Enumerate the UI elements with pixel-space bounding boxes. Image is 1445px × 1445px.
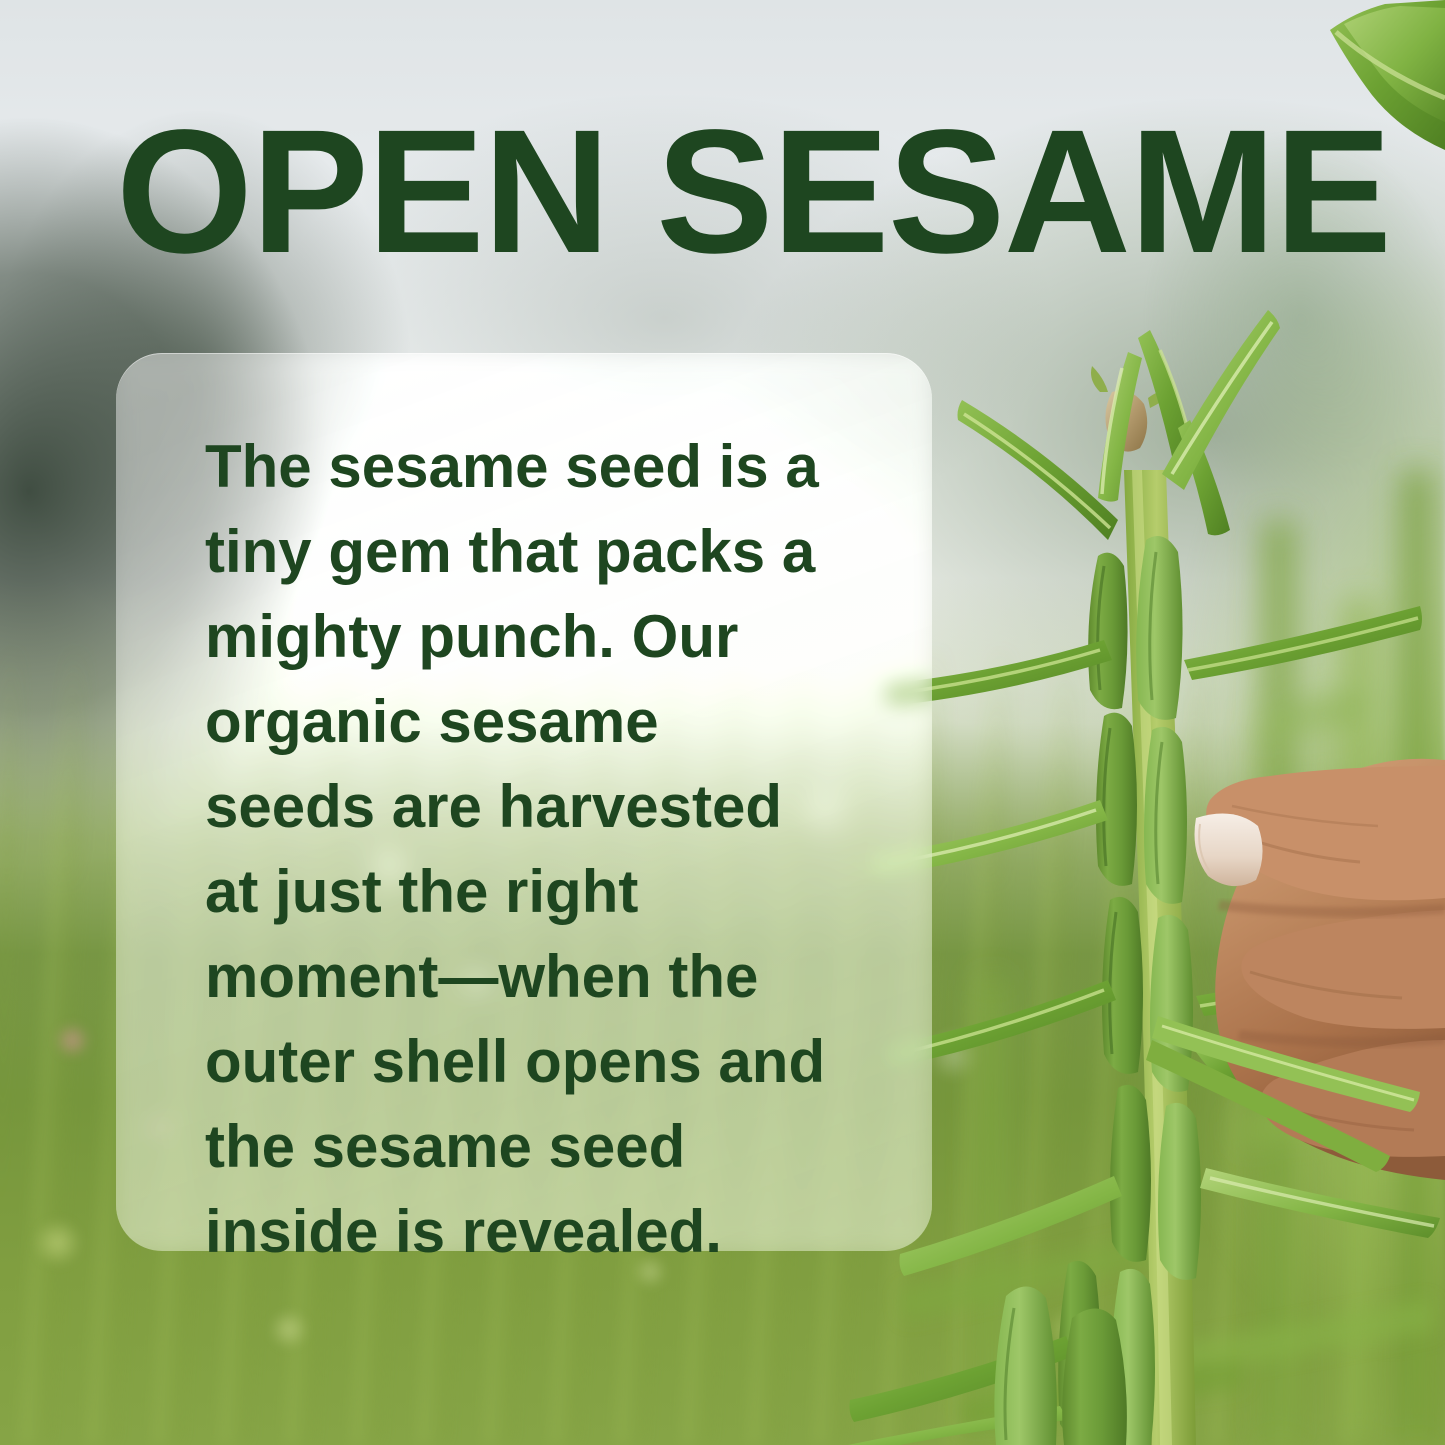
description-paragraph: The sesame seed is a tiny gem that packs… <box>205 424 845 1274</box>
sesame-upper-leaves <box>958 310 1281 540</box>
hand-holding-stalk <box>1195 759 1445 1180</box>
poster-canvas: OPEN SESAME The sesame seed is a tiny ge… <box>0 0 1445 1445</box>
description-text: The sesame seed is a tiny gem that packs… <box>205 424 845 1274</box>
page-title: OPEN SESAME <box>116 104 1216 280</box>
